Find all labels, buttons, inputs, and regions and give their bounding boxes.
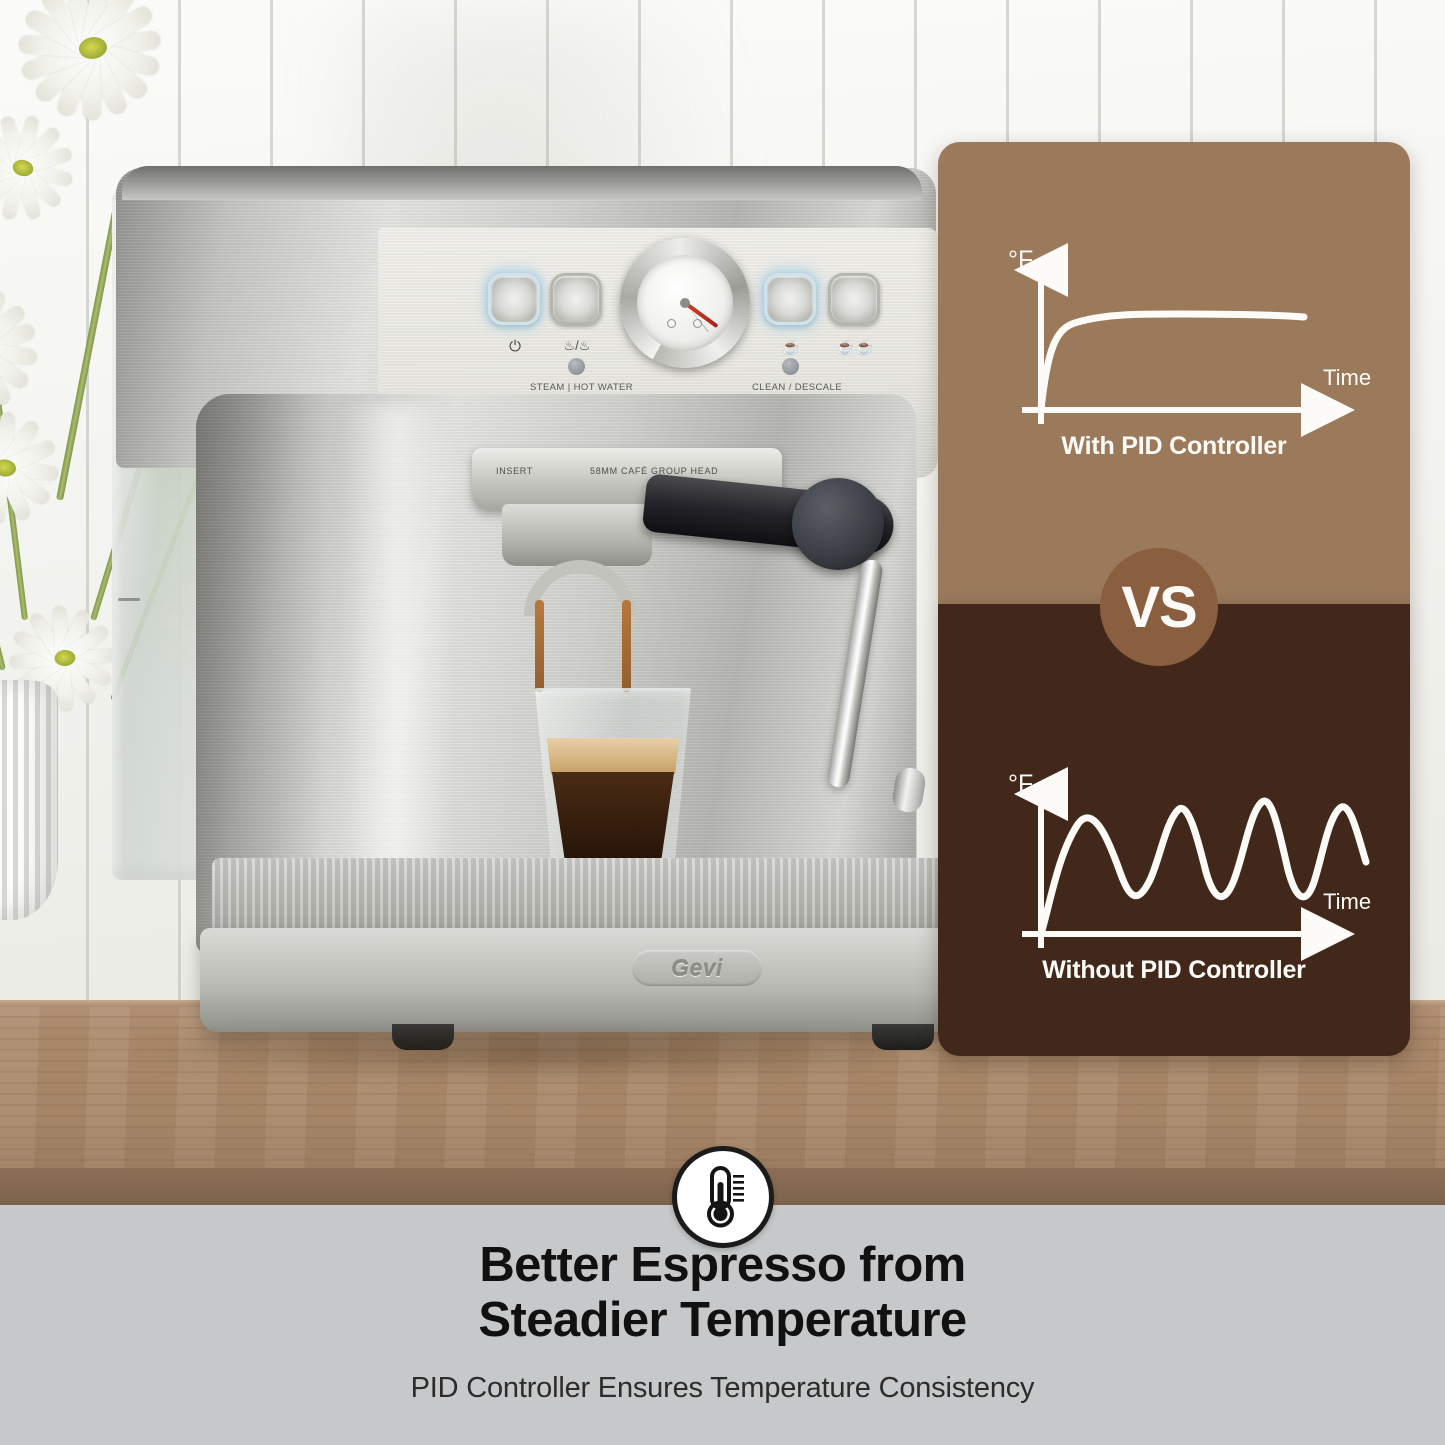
gauge-face: [637, 255, 733, 351]
brand-logo-plate: Gevi: [632, 950, 762, 986]
portafilter-handle-cap: [792, 478, 884, 570]
machine-base: [200, 928, 990, 1032]
power-icon: ⏻: [485, 338, 545, 355]
espresso-machine: ⏻ ♨/♨ STEAM | HOT WATER ☕ CLEAN / DESCAL…: [92, 168, 972, 1070]
no-pid-oscillating-curve: [1041, 801, 1366, 934]
pid-stable-curve: [1041, 314, 1304, 410]
thermometer-badge: [672, 1146, 774, 1248]
daisy-flower: [0, 283, 59, 414]
insert-text: INSERT: [496, 466, 533, 476]
daisy-flower: [6, 0, 181, 111]
steam-indicator-lamp: [568, 358, 585, 375]
chart-without-pid: °F Time: [938, 604, 1410, 1056]
x-axis-label: Time: [1323, 889, 1371, 914]
machine-ground-shadow: [130, 1030, 960, 1076]
steam-hot-water-button[interactable]: [550, 273, 602, 325]
gauge-marker-dot: [667, 319, 676, 328]
single-cup-icon: ☕: [761, 338, 821, 356]
y-axis-label: °F: [1008, 246, 1033, 274]
clean-indicator-lamp: [782, 358, 799, 375]
double-shot-button[interactable]: [828, 273, 880, 325]
panel-with-pid: °F Time With PID Controller: [938, 142, 1410, 604]
thermometer-icon: [695, 1164, 751, 1230]
portafilter[interactable]: [502, 504, 652, 566]
caption-with-pid: With PID Controller: [938, 432, 1410, 461]
steam-hot-water-label: STEAM | HOT WATER: [530, 382, 633, 393]
footer-subheadline: PID Controller Ensures Temperature Consi…: [0, 1372, 1445, 1405]
machine-cup-warmer-top: [122, 166, 922, 200]
brand-logo-text: Gevi: [671, 955, 723, 982]
steam-hot-water-icon: ♨/♨: [547, 338, 607, 354]
power-button[interactable]: [488, 273, 540, 325]
double-cup-icon: ☕☕: [825, 338, 885, 356]
espresso-stream: [535, 600, 544, 692]
footer-headline: Better Espresso from Steadier Temperatur…: [0, 1238, 1445, 1349]
headline-line-2: Steadier Temperature: [0, 1293, 1445, 1348]
ribbed-vase: [0, 680, 58, 920]
espresso-crema: [544, 738, 682, 774]
x-axis-label: Time: [1323, 365, 1371, 390]
y-axis-label: °F: [1008, 770, 1033, 798]
espresso-stream: [622, 600, 631, 692]
caption-without-pid: Without PID Controller: [938, 956, 1410, 985]
product-feature-image: ⏻ ♨/♨ STEAM | HOT WATER ☕ CLEAN / DESCAL…: [0, 0, 1445, 1445]
daisy-flower: [0, 421, 73, 515]
clean-descale-label: CLEAN / DESCALE: [752, 382, 842, 393]
daisy-flower: [0, 116, 91, 220]
pressure-gauge: [620, 238, 750, 368]
gauge-marker-dot: [693, 319, 702, 328]
single-shot-button[interactable]: [764, 273, 816, 325]
espresso-liquid: [548, 772, 678, 870]
panel-without-pid: °F Time Without PID Controller: [938, 604, 1410, 1056]
gauge-hub: [680, 298, 690, 308]
chart-with-pid: °F Time: [938, 142, 1410, 604]
vs-badge: VS: [1100, 548, 1218, 666]
vs-label: VS: [1121, 574, 1196, 641]
